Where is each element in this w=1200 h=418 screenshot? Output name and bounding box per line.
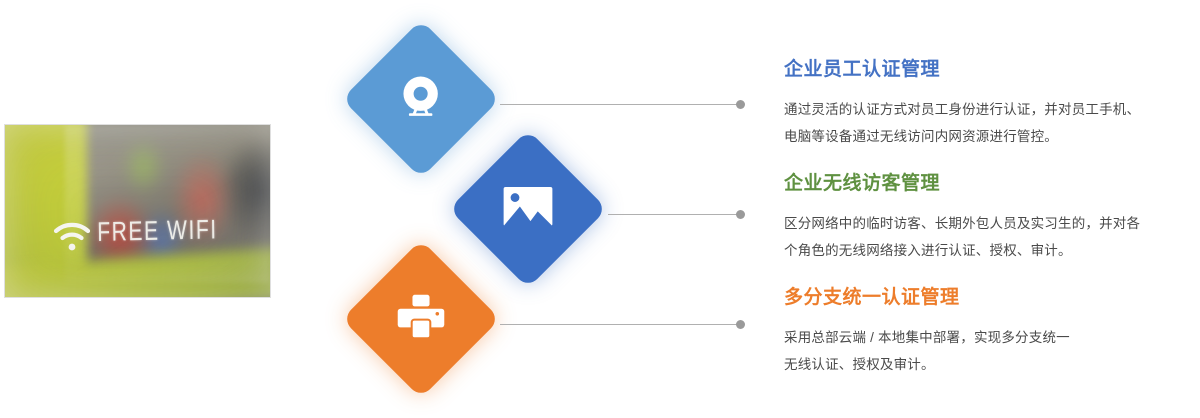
feature-body-1-line-1: 通过灵活的认证方式对员工身份进行认证，并对员工手机、	[784, 96, 1192, 123]
feature-block-1: 企业员工认证管理 通过灵活的认证方式对员工身份进行认证，并对员工手机、 电脑等设…	[784, 58, 1192, 150]
photo-inner: FREE WIFI	[5, 125, 270, 297]
photo-vignette	[5, 125, 270, 297]
connector-line-3	[500, 324, 738, 325]
feature-body-1: 通过灵活的认证方式对员工身份进行认证，并对员工手机、 电脑等设备通过无线访问内网…	[784, 96, 1192, 150]
connector-line-1	[500, 104, 738, 105]
connector-dot-3	[736, 320, 745, 329]
card-icon-printer[interactable]	[342, 240, 500, 398]
card-icon-image[interactable]	[449, 130, 607, 288]
infographic-stage: FREE WIFI	[0, 0, 1200, 418]
webcam-icon	[396, 72, 446, 127]
connector-line-2	[608, 214, 738, 215]
image-icon	[502, 185, 554, 233]
feature-body-3-line-1: 采用总部云端 / 本地集中部署，实现多分支统一	[784, 324, 1192, 351]
connector-dot-1	[736, 100, 745, 109]
feature-body-1-line-2: 电脑等设备通过无线访问内网资源进行管控。	[784, 123, 1192, 150]
card-icon-webcam[interactable]	[342, 20, 500, 178]
feature-body-2-line-1: 区分网络中的临时访客、长期外包人员及实习生的，并对各	[784, 210, 1192, 237]
feature-body-3-line-2: 无线认证、授权及审计。	[784, 351, 1192, 378]
free-wifi-photo: FREE WIFI	[5, 125, 270, 297]
connector-dot-2	[736, 210, 745, 219]
feature-title-3: 多分支统一认证管理	[784, 286, 1192, 311]
feature-title-2: 企业无线访客管理	[784, 172, 1192, 197]
feature-body-2: 区分网络中的临时访客、长期外包人员及实习生的，并对各 个角色的无线网络接入进行认…	[784, 210, 1192, 264]
feature-body-3: 采用总部云端 / 本地集中部署，实现多分支统一 无线认证、授权及审计。	[784, 324, 1192, 378]
feature-block-3: 多分支统一认证管理 采用总部云端 / 本地集中部署，实现多分支统一 无线认证、授…	[784, 286, 1192, 378]
feature-block-2: 企业无线访客管理 区分网络中的临时访客、长期外包人员及实习生的，并对各 个角色的…	[784, 172, 1192, 264]
feature-title-1: 企业员工认证管理	[784, 58, 1192, 83]
feature-body-2-line-2: 个角色的无线网络接入进行认证、授权、审计。	[784, 237, 1192, 264]
printer-icon	[396, 294, 446, 344]
